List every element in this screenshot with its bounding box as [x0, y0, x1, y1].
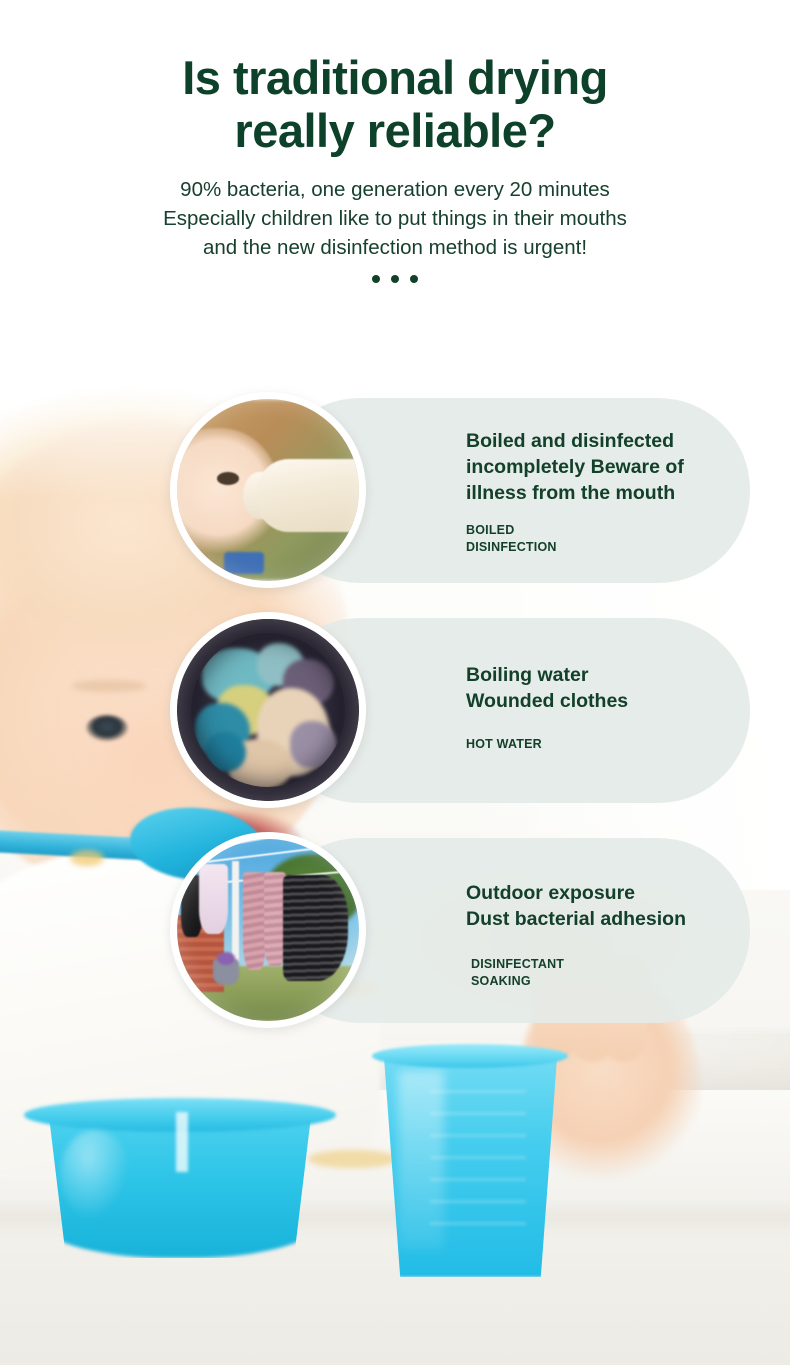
page-title-line-2: really reliable?	[0, 105, 790, 158]
baby-drinking-bottle-photo	[177, 399, 359, 581]
header: Is traditional drying really reliable? 9…	[0, 0, 790, 283]
card-thumbnail	[170, 612, 366, 808]
card-body: Outdoor exposure Dust bacterial adhesion…	[466, 880, 734, 990]
page-subtitle: 90% bacteria, one generation every 20 mi…	[0, 175, 790, 262]
page-title-line-1: Is traditional drying	[0, 52, 790, 105]
basin-of-laundry-photo	[177, 619, 359, 801]
cup-measurement-marks	[430, 1090, 526, 1240]
divider-dots	[0, 275, 790, 283]
promo-page: Is traditional drying really reliable? 9…	[0, 0, 790, 1365]
feature-card[interactable]: Boiling water Wounded clothes HOT WATER	[268, 618, 750, 803]
bowl-highlight	[60, 1130, 130, 1220]
clothes-on-washing-line-photo	[177, 839, 359, 1021]
card-thumbnail	[170, 392, 366, 588]
card-tag: HOT WATER	[466, 736, 734, 753]
page-subtitle-line-2: Especially children like to put things i…	[0, 204, 790, 233]
card-body: Boiled and disinfected incompletely Bewa…	[466, 428, 734, 556]
bowl-divider	[176, 1112, 188, 1172]
page-title: Is traditional drying really reliable?	[0, 52, 790, 157]
card-tag: DISINFECTANT SOAKING	[466, 956, 734, 990]
dot-icon	[410, 275, 418, 283]
feature-card-list: Boiled and disinfected incompletely Bewa…	[0, 398, 790, 1058]
feature-card[interactable]: Outdoor exposure Dust bacterial adhesion…	[268, 838, 750, 1023]
page-subtitle-line-1: 90% bacteria, one generation every 20 mi…	[0, 175, 790, 204]
food-smear	[308, 1150, 398, 1168]
feature-card[interactable]: Boiled and disinfected incompletely Bewa…	[268, 398, 750, 583]
card-body: Boiling water Wounded clothes HOT WATER	[466, 662, 734, 753]
card-title: Boiling water Wounded clothes	[466, 662, 734, 714]
card-title: Outdoor exposure Dust bacterial adhesion	[466, 880, 734, 932]
page-subtitle-line-3: and the new disinfection method is urgen…	[0, 233, 790, 262]
card-thumbnail	[170, 832, 366, 1028]
dot-icon	[391, 275, 399, 283]
cup-highlight	[398, 1070, 444, 1250]
dot-icon	[372, 275, 380, 283]
card-tag: BOILED DISINFECTION	[466, 522, 734, 556]
card-title: Boiled and disinfected incompletely Bewa…	[466, 428, 734, 506]
